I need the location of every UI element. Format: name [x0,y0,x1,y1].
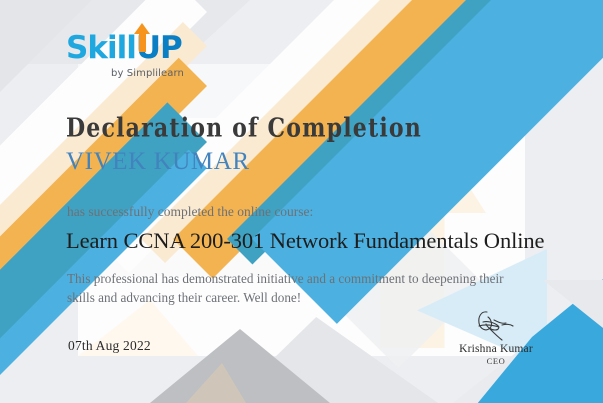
signatory-name: Krishna Kumar [440,343,552,355]
brand-logo: SkillUP by Simplilearn [66,33,184,79]
course-title: Learn CCNA 200-301 Network Fundamentals … [66,228,544,254]
signatory-role: CEO [440,356,552,366]
recipient-name: VIVEK KUMAR [66,148,250,176]
brand-logo-tagline: by Simplilearn [66,68,184,79]
certificate-canvas: SkillUP by Simplilearn Declaration of Co… [0,0,603,403]
issue-date: 07th Aug 2022 [68,338,151,354]
completion-lead-line: has successfully completed the online co… [67,204,313,220]
certificate-blurb: This professional has demonstrated initi… [67,269,507,307]
handwritten-signature-icon [440,308,552,342]
certificate-content: SkillUP by Simplilearn Declaration of Co… [0,0,603,403]
signature-block: Krishna Kumar CEO [440,308,552,366]
brand-logo-skill: Skill [66,30,136,66]
brand-logo-wordmark: SkillUP [66,33,182,64]
certificate-heading: Declaration of Completion [66,113,422,143]
